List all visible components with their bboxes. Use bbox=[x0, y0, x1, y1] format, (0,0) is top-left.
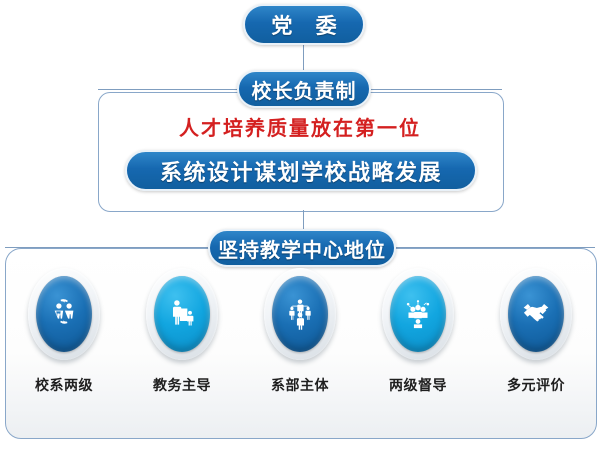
bubble-fill bbox=[154, 276, 210, 352]
connector-principal-left-rail bbox=[98, 89, 237, 90]
bubble-fill bbox=[272, 276, 328, 352]
pillar-label: 系部主体 bbox=[271, 375, 329, 395]
bubble-frame bbox=[146, 268, 218, 360]
people-collaboration-icon bbox=[47, 297, 81, 331]
person-with-document-icon bbox=[165, 297, 199, 331]
pillar-cell-list: 校系两级 教务主导 bbox=[5, 268, 595, 418]
people-network-group-icon bbox=[401, 297, 435, 331]
bubble-fill bbox=[508, 276, 564, 352]
connector-party-to-principal bbox=[303, 45, 304, 70]
pillar-cell-two-level-supervision[interactable]: 两级督导 bbox=[364, 268, 472, 395]
slogan-text: 人才培养质量放在第一位 bbox=[98, 112, 502, 141]
pillar-cell-department-body[interactable]: 系部主体 bbox=[246, 268, 354, 395]
bubble-frame bbox=[28, 268, 100, 360]
node-teaching-center[interactable]: 坚持教学中心地位 bbox=[208, 229, 396, 267]
pillar-label: 两级督导 bbox=[389, 375, 447, 395]
pillar-label: 校系两级 bbox=[35, 375, 93, 395]
pillar-label: 教务主导 bbox=[153, 375, 211, 395]
org-hierarchy-people-icon bbox=[283, 297, 317, 331]
bubble-fill bbox=[390, 276, 446, 352]
bubble-frame bbox=[382, 268, 454, 360]
handshake-icon bbox=[519, 297, 553, 331]
bubble-frame bbox=[500, 268, 572, 360]
node-party-committee[interactable]: 党 委 bbox=[243, 4, 365, 45]
bubble-fill bbox=[36, 276, 92, 352]
pillar-cell-school-department-levels[interactable]: 校系两级 bbox=[10, 268, 118, 395]
pillar-cell-academic-affairs-leading[interactable]: 教务主导 bbox=[128, 268, 236, 395]
pillar-label: 多元评价 bbox=[507, 375, 565, 395]
bubble-frame bbox=[264, 268, 336, 360]
connector-principal-right-rail bbox=[371, 89, 502, 90]
connector-strategy-to-teaching bbox=[303, 210, 304, 229]
organization-structure-diagram: 党 委 校长负责制 人才培养质量放在第一位 系统设计谋划学校战略发展 坚持教学中… bbox=[0, 0, 600, 458]
pillar-cell-diversified-evaluation[interactable]: 多元评价 bbox=[482, 268, 590, 395]
node-strategic-development[interactable]: 系统设计谋划学校战略发展 bbox=[125, 150, 477, 191]
node-principal-responsibility[interactable]: 校长负责制 bbox=[237, 70, 371, 108]
